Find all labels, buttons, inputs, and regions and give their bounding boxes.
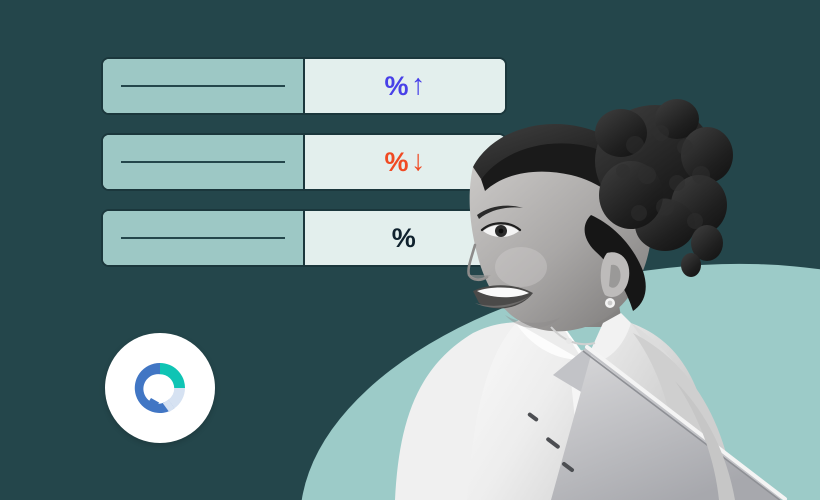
trend-up-icon: ↑ bbox=[411, 71, 426, 100]
metric-label-panel bbox=[103, 59, 305, 113]
metric-value-panel: % ↑ bbox=[305, 59, 505, 113]
placeholder-line bbox=[121, 85, 285, 87]
metric-label-panel bbox=[103, 135, 305, 189]
metric-rows-group: % ↑ % ↓ % bbox=[101, 57, 507, 267]
promo-banner: % ↑ % ↓ % bbox=[0, 0, 820, 500]
percent-symbol: % bbox=[392, 225, 416, 252]
trend-down-icon: ↓ bbox=[411, 147, 426, 176]
metric-value-panel: % bbox=[305, 211, 505, 265]
percent-symbol: % bbox=[384, 149, 408, 176]
metric-label-panel bbox=[103, 211, 305, 265]
circular-q-logo-icon bbox=[129, 357, 191, 419]
placeholder-line bbox=[121, 237, 285, 239]
metric-row[interactable]: % ↓ bbox=[101, 133, 507, 191]
metric-row[interactable]: % ↑ bbox=[101, 57, 507, 115]
logo-badge[interactable] bbox=[105, 333, 215, 443]
placeholder-line bbox=[121, 161, 285, 163]
metric-value-panel: % ↓ bbox=[305, 135, 505, 189]
metric-row[interactable]: % bbox=[101, 209, 507, 267]
percent-symbol: % bbox=[384, 73, 408, 100]
